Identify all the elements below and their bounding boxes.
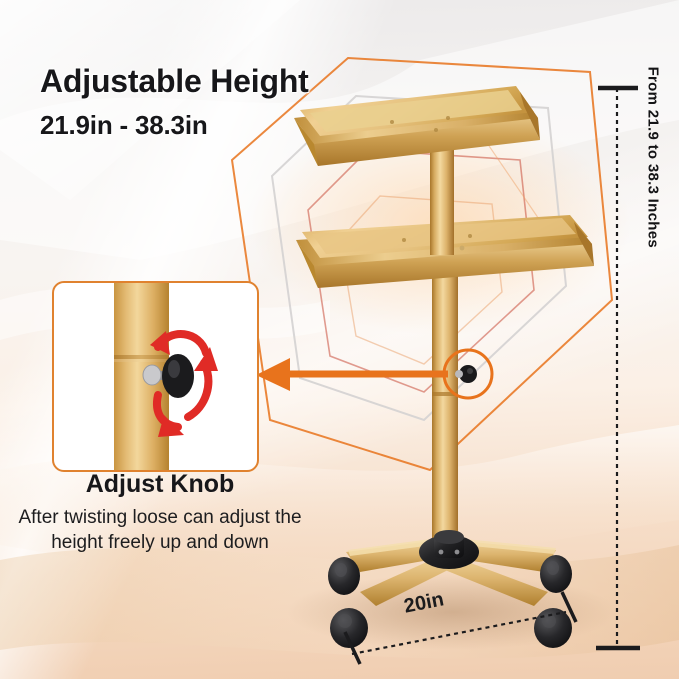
callout-title: Adjust Knob <box>0 470 320 499</box>
width-dim-cap-right <box>562 592 576 622</box>
page-title: Adjustable Height <box>40 63 309 100</box>
height-dimension-label: From 21.9 to 38.3 Inches <box>644 67 661 248</box>
infographic-canvas: Adjustable Height 21.9in - 38.3in Adjust… <box>0 0 679 679</box>
width-dim-cap-left <box>345 632 360 664</box>
width-dimension-line <box>352 612 566 654</box>
height-range-label: 21.9in - 38.3in <box>40 110 208 141</box>
dimension-lines <box>0 0 679 679</box>
callout-description: After twisting loose can adjust the heig… <box>10 505 310 555</box>
